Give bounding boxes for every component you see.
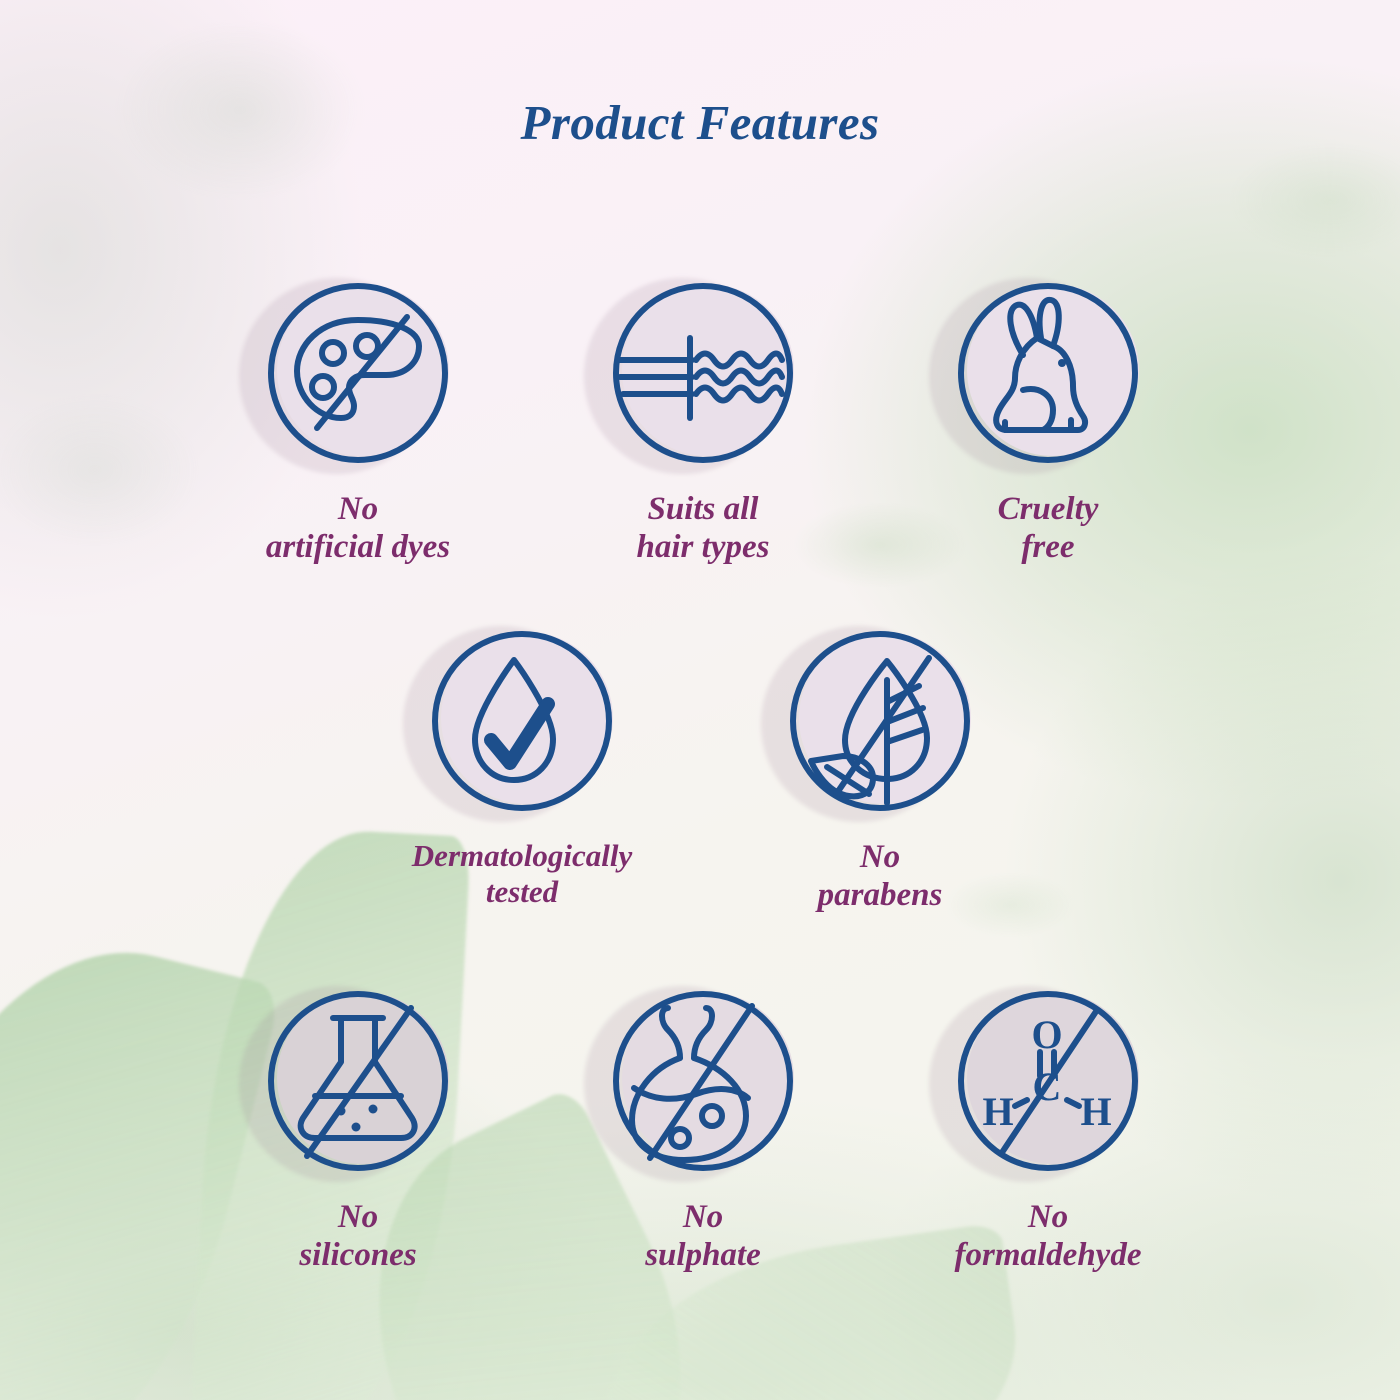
feature-item-cruelty-free: Cruelty free [898,270,1198,567]
feature-caption: Dermatologically tested [372,838,672,910]
feature-caption: No silicones [208,1198,508,1275]
no-artificial-dyes-icon [255,270,461,476]
badge-suits-all-hair-types [600,270,806,476]
cruelty-free-icon [945,270,1151,476]
no-sulphate-icon [600,978,806,1184]
caption-line-1: No [208,490,508,528]
feature-caption: No formaldehyde [898,1198,1198,1275]
feature-caption: No parabens [730,838,1030,915]
feature-item-suits-all-hair-types: Suits all hair types [553,270,853,567]
feature-caption: No sulphate [553,1198,853,1275]
feature-item-no-formaldehyde: O C H H No formaldehyde [898,978,1198,1275]
feature-item-no-artificial-dyes: No artificial dyes [208,270,508,567]
feature-caption: Suits all hair types [553,490,853,567]
no-formaldehyde-icon: O C H H [945,978,1151,1184]
caption-line-2: tested [372,874,672,910]
molecule-label-hydrogen-right: H [1080,1089,1111,1134]
badge-no-sulphate [600,978,806,1184]
caption-line-2: parabens [730,876,1030,914]
badge-no-silicones [255,978,461,1184]
caption-line-2: free [898,528,1198,566]
feature-item-no-sulphate: No sulphate [553,978,853,1275]
caption-line-1: Dermatologically [372,838,672,874]
caption-line-1: No [553,1198,853,1236]
caption-line-1: No [898,1198,1198,1236]
dermatologically-tested-icon [419,618,625,824]
caption-line-2: formaldehyde [898,1236,1198,1274]
feature-item-no-silicones: No silicones [208,978,508,1275]
molecule-label-oxygen: O [1031,1012,1062,1057]
molecule-label-carbon: C [1033,1064,1062,1109]
feature-grid: No artificial dyes [0,0,1400,1400]
no-silicones-icon [255,978,461,1184]
badge-no-formaldehyde: O C H H [945,978,1151,1184]
caption-line-2: sulphate [553,1236,853,1274]
feature-caption: Cruelty free [898,490,1198,567]
caption-line-1: No [730,838,1030,876]
molecule-label-hydrogen-left: H [982,1089,1013,1134]
suits-all-hair-types-icon [600,270,806,476]
caption-line-1: No [208,1198,508,1236]
caption-line-2: hair types [553,528,853,566]
badge-cruelty-free [945,270,1151,476]
feature-item-no-parabens: No parabens [730,618,1030,915]
caption-line-1: Suits all [553,490,853,528]
feature-item-dermatologically-tested: Dermatologically tested [372,618,672,910]
caption-line-2: silicones [208,1236,508,1274]
badge-dermatologically-tested [419,618,625,824]
no-parabens-icon [777,618,983,824]
badge-no-artificial-dyes [255,270,461,476]
feature-caption: No artificial dyes [208,490,508,567]
product-features-poster: Product Features N [0,0,1400,1400]
badge-no-parabens [777,618,983,824]
caption-line-2: artificial dyes [208,528,508,566]
caption-line-1: Cruelty [898,490,1198,528]
